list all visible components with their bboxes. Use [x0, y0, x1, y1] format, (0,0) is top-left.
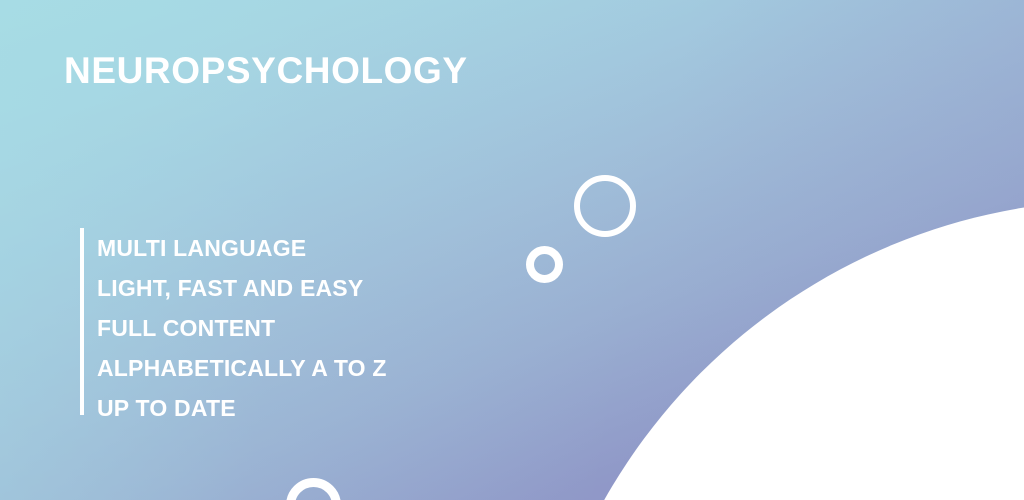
page-title: NEUROPSYCHOLOGY [64, 52, 468, 89]
decorative-ring-large-icon [574, 175, 636, 237]
list-item: FULL CONTENT [97, 308, 387, 348]
list-item: MULTI LANGUAGE [97, 228, 387, 268]
list-item: UP TO DATE [97, 388, 387, 428]
list-item: LIGHT, FAST AND EASY [97, 268, 387, 308]
feature-list: MULTI LANGUAGE LIGHT, FAST AND EASY FULL… [80, 228, 387, 415]
decorative-ring-small-icon [526, 246, 563, 283]
app-banner: NEUROPSYCHOLOGY MULTI LANGUAGE LIGHT, FA… [0, 0, 1024, 500]
list-item: ALPHABETICALLY A TO Z [97, 348, 387, 388]
